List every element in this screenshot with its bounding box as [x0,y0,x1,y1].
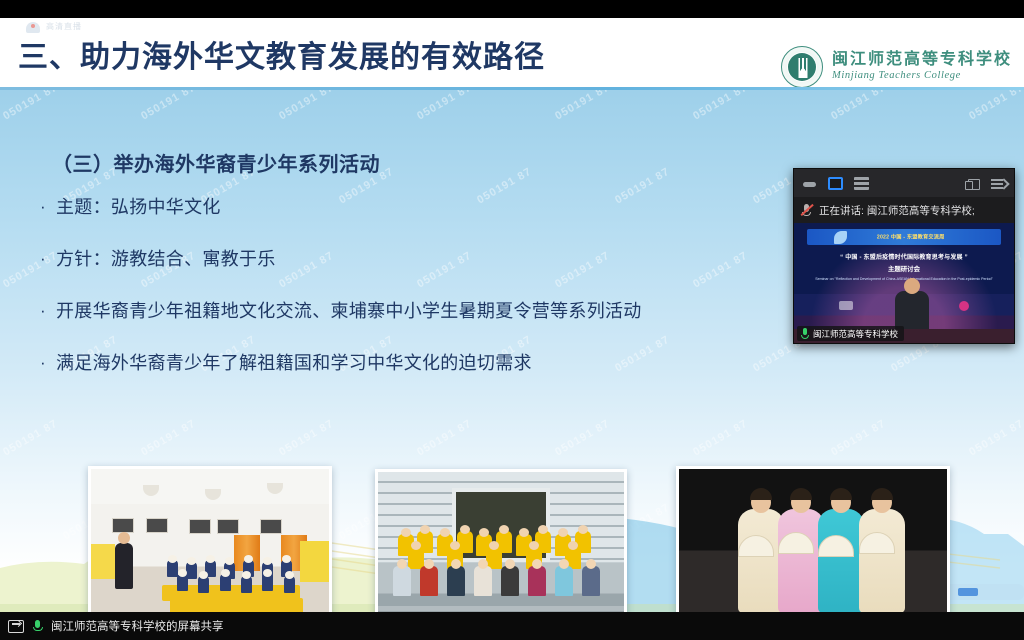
bullet-marker: · [40,195,56,219]
active-speaker-label: 正在讲话: 闽江师范高等专科学校; [819,203,975,218]
bullet-item: · 满足海外华裔青少年了解祖籍国和学习中华文化的迫切需求 [40,351,830,375]
bullet-item: · 主题：弘扬中华文化 [40,195,830,219]
bullet-list: · 主题：弘扬中华文化 · 方针：游教结合、寓教于乐 · 开展华裔青少年祖籍地文… [40,195,830,403]
bullet-item: · 方针：游教结合、寓教于乐 [40,247,830,271]
event-title-line2: 主题研讨会 [803,264,1005,273]
screen-share-window: 高清直播 三、助力海外华文教育发展的有效路径 闽江师范高等专科学校 Minjia… [0,0,1024,640]
school-name-en: Minjiang Teachers College [832,70,1012,82]
screen-share-icon[interactable] [8,620,24,633]
section-subtitle: （三）举办海外华裔青少年系列活动 [52,148,380,177]
photo-performance [676,466,950,612]
bullet-marker: · [40,351,56,375]
background-watermark: 050191 87 [277,90,336,122]
pip-toolbar [794,169,1014,197]
event-emblem-icon [834,231,847,244]
background-watermark: 050191 87 [829,90,888,122]
bullet-item: · 开展华裔青少年祖籍地文化交流、柬埔寨中小学生暑期夏令营等系列活动 [40,299,830,323]
live-badge-label: 高清直播 [46,21,82,32]
school-logo-text: 闽江师范高等专科学校 Minjiang Teachers College [832,51,1012,82]
active-speaker-bar: 正在讲话: 闽江师范高等专科学校; [794,197,1014,223]
bullet-text: 方针：游教结合、寓教于乐 [56,247,276,271]
gallery-view-icon[interactable] [854,177,869,190]
microphone-icon[interactable] [32,619,43,634]
video-feed[interactable]: 2022 中国 - 东盟教育交流周 “ 中国 - 东盟后疫情时代国际教育思考与发… [794,223,1014,344]
bullet-text: 满足海外华裔青少年了解祖籍国和学习中华文化的迫切需求 [56,351,532,375]
bullet-text: 主题：弘扬中华文化 [56,195,221,219]
event-banner-text: 2022 中国 - 东盟教育交流周 [877,234,945,241]
slide-header: 高清直播 三、助力海外华文教育发展的有效路径 闽江师范高等专科学校 Minjia… [0,18,1024,90]
photo-strip [0,386,1024,566]
active-speaker-view-icon[interactable] [828,177,843,190]
school-name-cn: 闽江师范高等专科学校 [832,51,1012,70]
background-watermark: 050191 87 [139,90,198,122]
participant-name-badge: 闽江师范高等专科学校 [797,326,904,341]
photo-group [375,469,627,612]
screen-share-taskbar: 闽江师范高等专科学校的屏幕共享 [0,612,1024,640]
participant-name: 闽江师范高等专科学校 [813,328,898,340]
bullet-marker: · [40,299,56,323]
school-logo: 闽江师范高等专科学校 Minjiang Teachers College [781,46,1012,88]
mic-muted-icon [800,203,813,217]
top-black-strip [0,0,1024,18]
expand-panel-icon[interactable] [991,177,1006,190]
mic-active-icon [801,328,809,339]
background-watermark: 050191 87 [553,90,612,122]
background-watermark: 050191 87 [967,90,1024,122]
screen-share-label: 闽江师范高等专科学校的屏幕共享 [51,618,224,634]
school-seal-icon [781,46,823,88]
event-title-line1: “ 中国 - 东盟后疫情时代国际教育思考与发展 ” [803,252,1005,261]
event-banner: 2022 中国 - 东盟教育交流周 [807,229,1001,245]
page-title: 三、助力海外华文教育发展的有效路径 [18,32,545,76]
bullet-marker: · [40,247,56,271]
background-watermark: 050191 87 [691,90,750,122]
bullet-text: 开展华裔青少年祖籍地文化交流、柬埔寨中小学生暑期夏令营等系列活动 [56,299,642,323]
background-watermark: 050191 87 [1,90,60,122]
background-watermark: 050191 87 [415,90,474,122]
popout-window-icon[interactable] [965,177,980,190]
minimized-bar-view-icon[interactable] [802,177,817,190]
video-pip-panel[interactable]: 正在讲话: 闽江师范高等专科学校; 2022 中国 - 东盟教育交流周 “ 中国… [793,168,1015,344]
photo-classroom [88,466,332,612]
